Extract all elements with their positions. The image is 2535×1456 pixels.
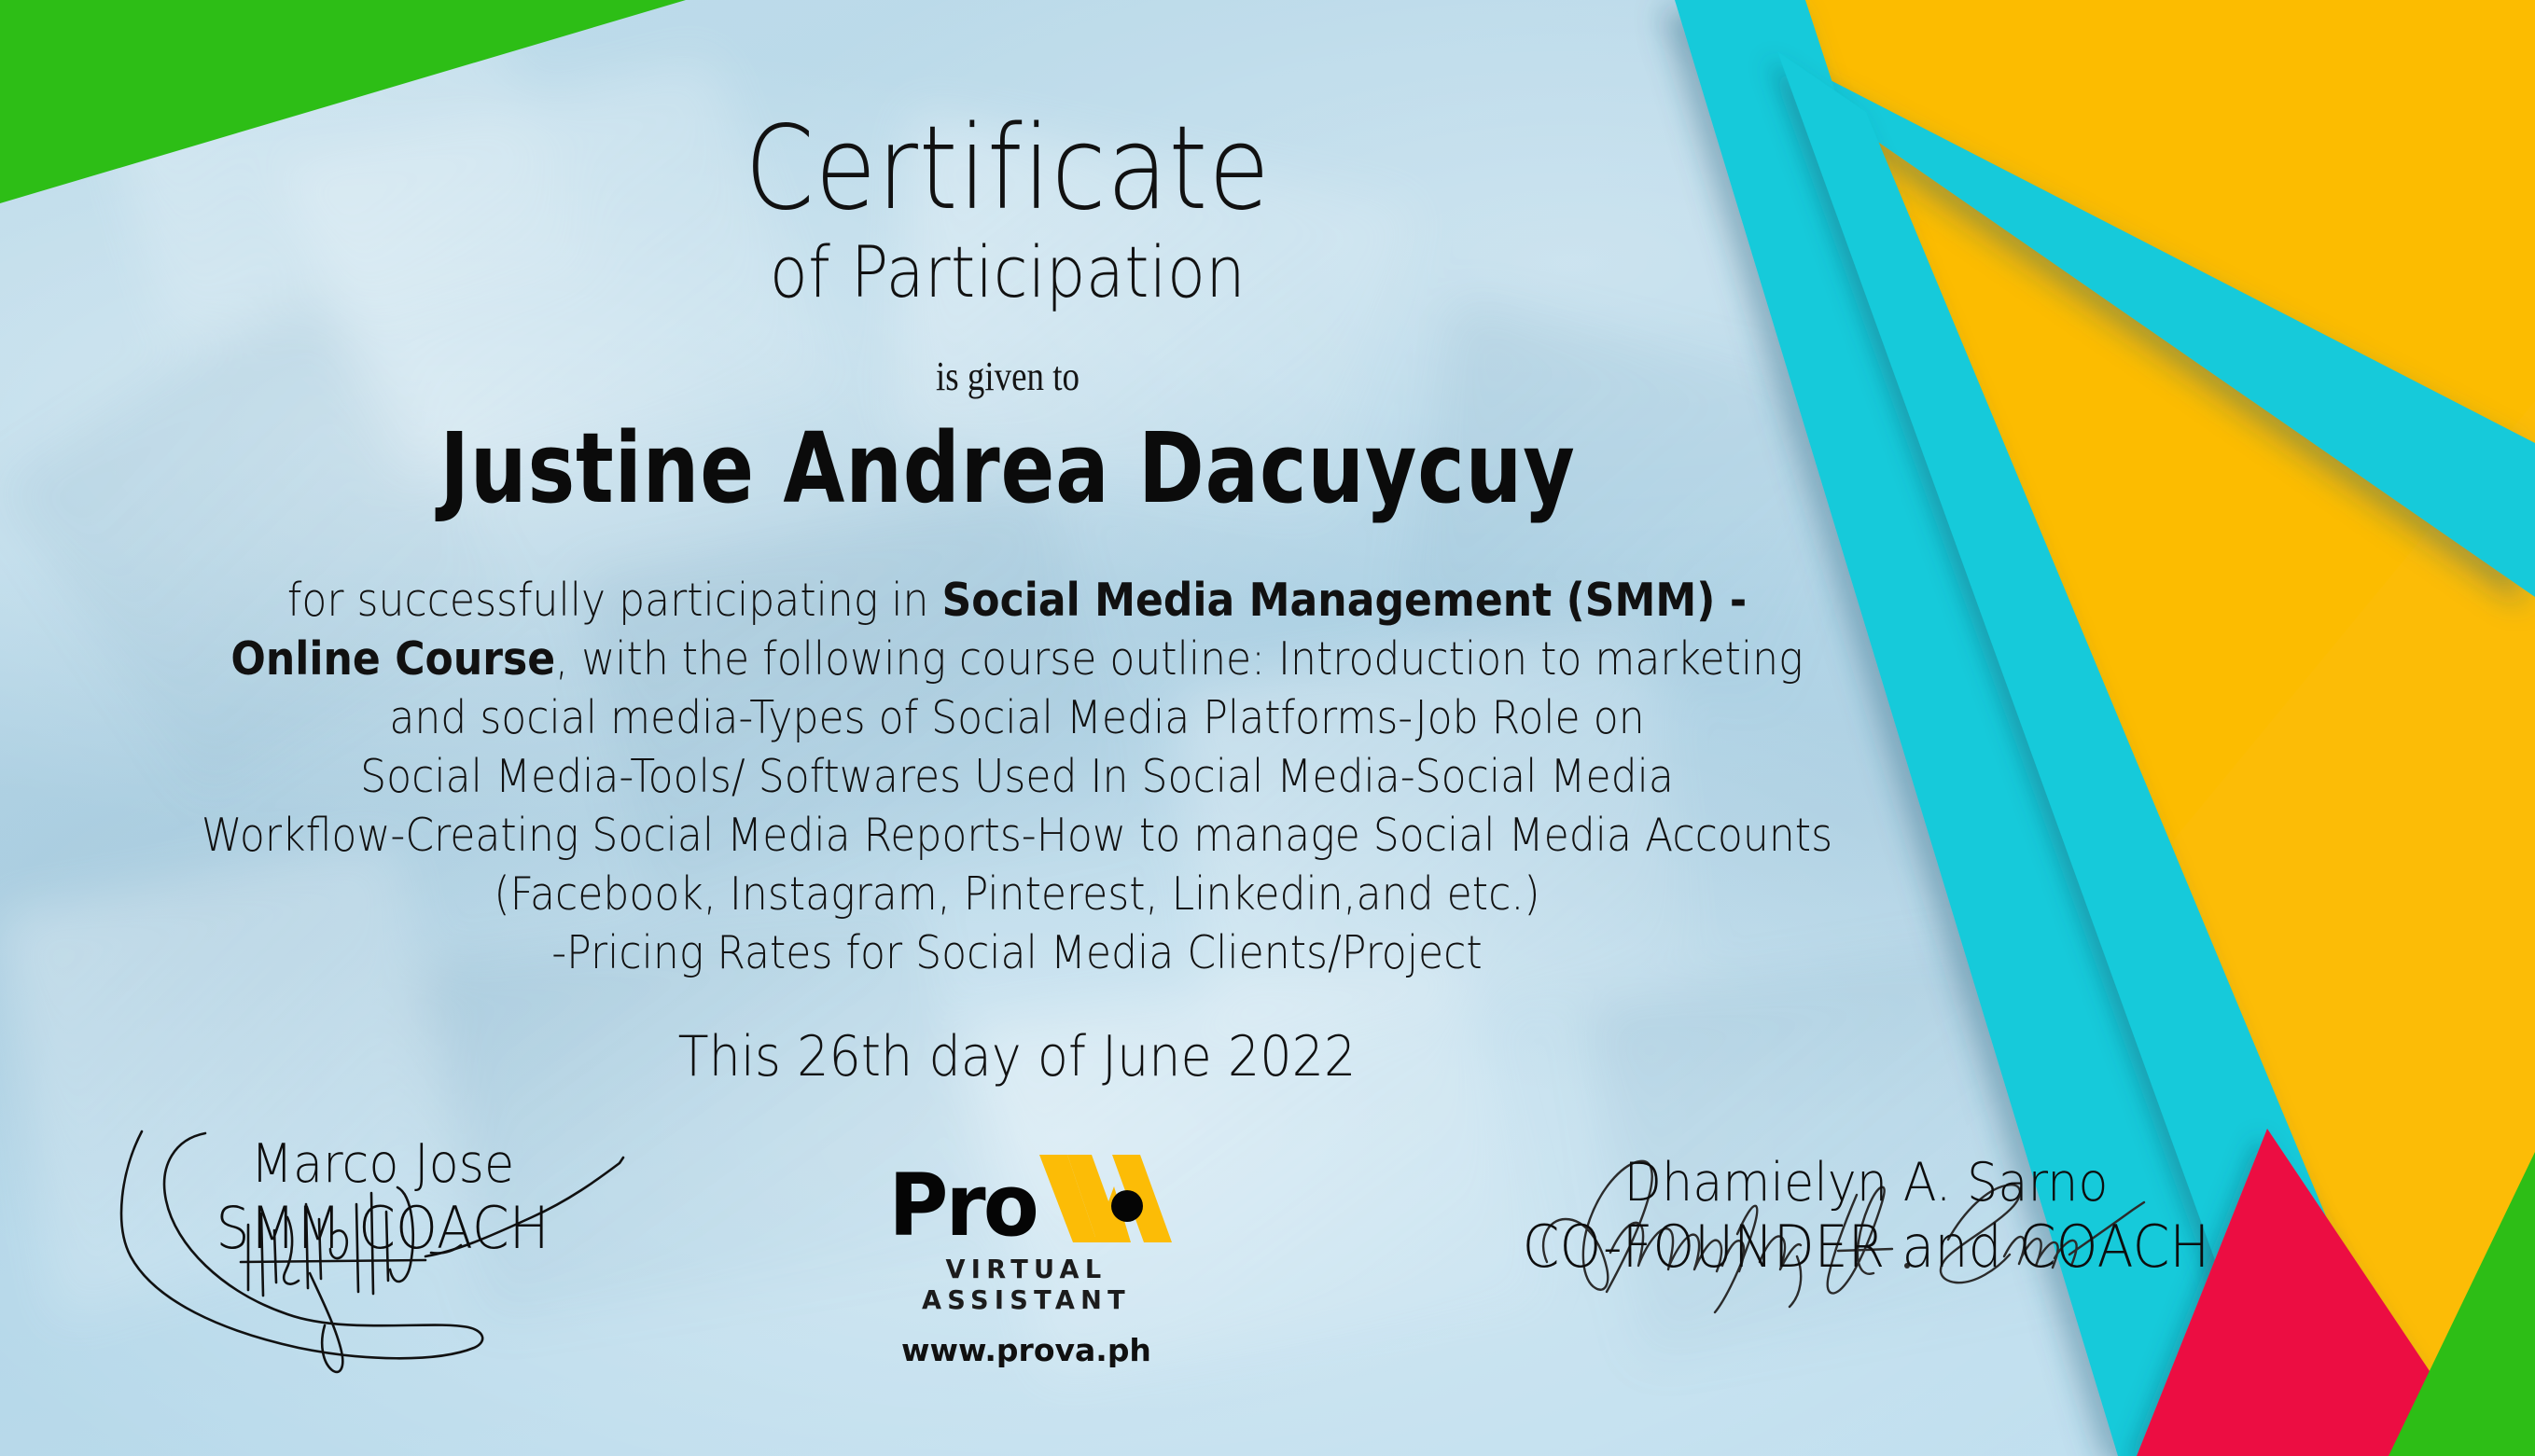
body-text-line: Online Course, with the following course…	[135, 630, 1899, 688]
body-text-run: -Pricing Rates for Social Media Clients/…	[551, 926, 1482, 979]
prova-va-logo-icon	[1039, 1155, 1172, 1242]
body-text-emphasis: Social Media Management (SMM) -	[942, 574, 1748, 627]
logo-url: www.prova.ph	[840, 1332, 1213, 1368]
body-text-line: for successfully participating in Social…	[135, 571, 1899, 630]
logo-word-pro: Pro	[889, 1169, 1038, 1242]
recipient-name: Justine Andrea Dacuycuy	[181, 420, 1833, 517]
body-text-run: Workflow-Creating Social Media Reports-H…	[202, 809, 1832, 862]
body-text-emphasis: Online Course	[230, 632, 555, 686]
certificate-title: Certificate	[141, 110, 1874, 228]
body-text-line: -Pricing Rates for Social Media Clients/…	[135, 923, 1899, 982]
body-text-run: Social Media-Tools/ Softwares Used In So…	[360, 750, 1674, 803]
signature-role-left: SMM COACH	[82, 1195, 683, 1262]
body-text-line: (Facebook, Instagram, Pinterest, Linkedi…	[135, 865, 1899, 923]
body-text-run: , with the following course outline: Int…	[555, 632, 1803, 686]
body-text-line: Social Media-Tools/ Softwares Used In So…	[135, 747, 1899, 806]
certificate-body-text: for successfully participating in Social…	[135, 571, 1899, 982]
body-text-line: Workflow-Creating Social Media Reports-H…	[135, 806, 1899, 865]
prova-logo-block: Pro VIRTUAL ASSISTANT www.prova.ph	[840, 1157, 1213, 1368]
body-text-run: for successfully participating in	[287, 574, 942, 627]
body-text-run: (Facebook, Instagram, Pinterest, Linkedi…	[494, 867, 1539, 921]
given-to-label: is given to	[161, 353, 1854, 400]
logo-tagline: VIRTUAL ASSISTANT	[845, 1254, 1207, 1315]
prova-logo-mark: Pro	[840, 1157, 1213, 1242]
certificate-title-block: Certificate of Participation	[0, 110, 2015, 312]
signature-name-right: Dhamielyn A. Sarno	[1514, 1152, 2218, 1213]
certificate-date: This 26th day of June 2022	[135, 1024, 1899, 1089]
certificate-canvas: Certificate of Participation is given to…	[0, 0, 2535, 1456]
signature-name-left: Marco Jose	[82, 1133, 683, 1195]
signature-block-left: Marco Jose SMM COACH	[56, 1133, 709, 1262]
signature-block-right: Dhamielyn A. Sarno CO-FOUNDER and COACH	[1483, 1152, 2249, 1281]
signature-role-right: CO-FOUNDER and COACH	[1514, 1213, 2218, 1281]
body-text-line: and social media-Types of Social Media P…	[135, 688, 1899, 747]
certificate-subtitle: of Participation	[121, 233, 1895, 312]
body-text-run: and social media-Types of Social Media P…	[389, 691, 1644, 744]
